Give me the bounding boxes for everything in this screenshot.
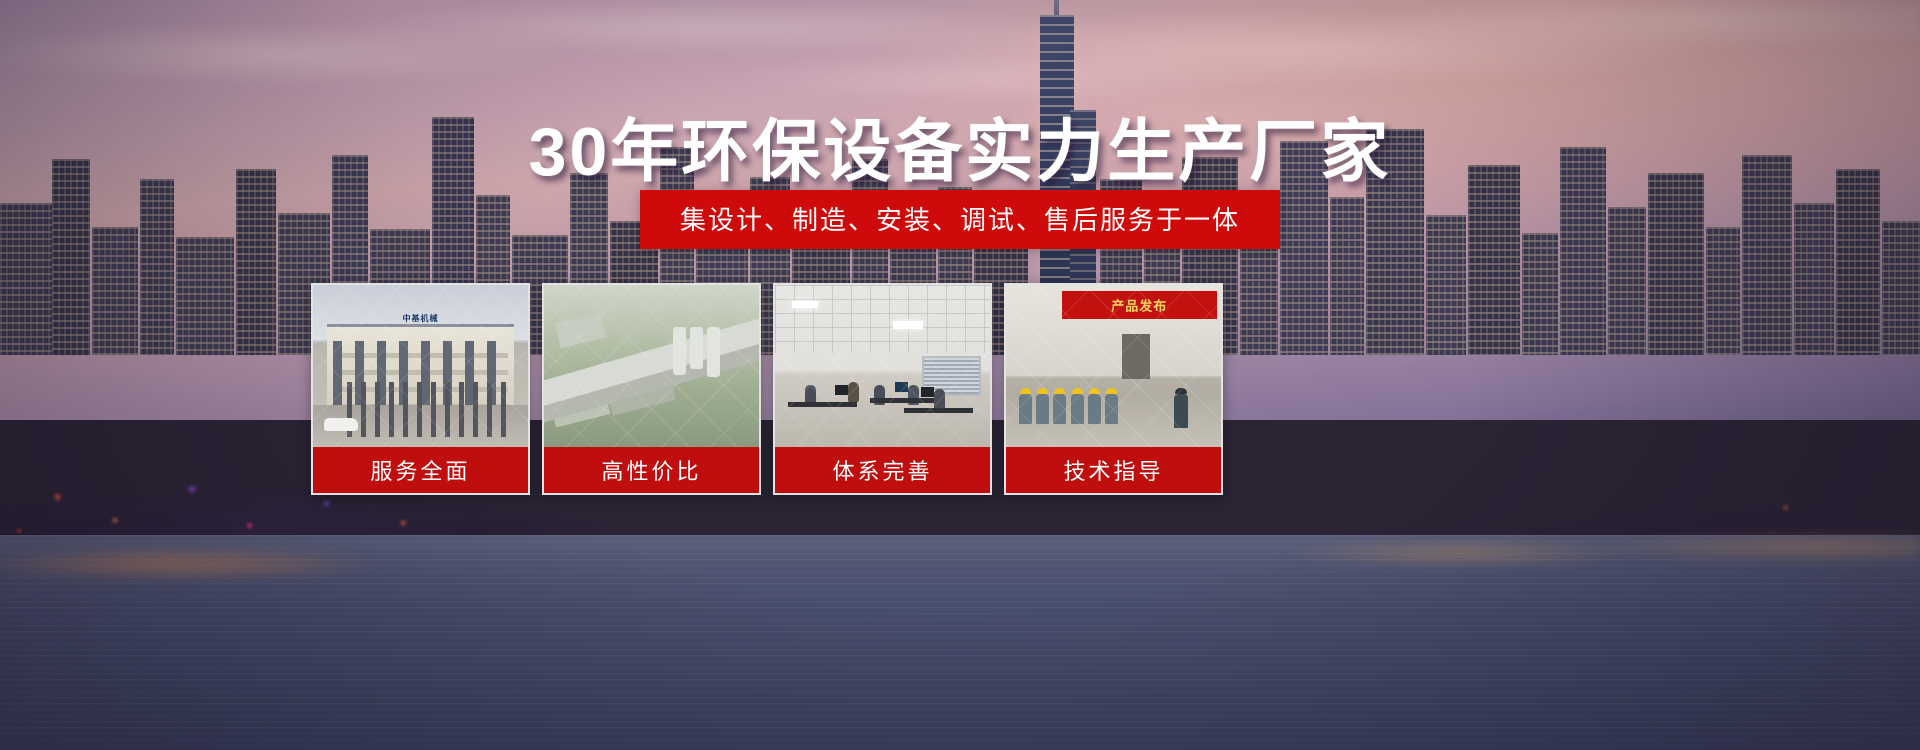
water-reflections: [0, 520, 1920, 630]
card-label: 高性价比: [544, 447, 759, 493]
factory-banner-text: 产品发布: [1111, 296, 1167, 315]
card-label: 技术指导: [1006, 447, 1221, 493]
feature-card-list: 中基机械 服务全面 高性价比: [311, 283, 1571, 495]
card-label: 服务全面: [313, 447, 528, 493]
feature-card[interactable]: 体系完善: [773, 283, 992, 495]
subtitle-wrap: 集设计、制造、安装、调试、售后服务于一体: [0, 190, 1920, 249]
hero-banner: 30年环保设备实力生产厂家 集设计、制造、安装、调试、售后服务于一体 中基机械 …: [0, 0, 1920, 750]
feature-card[interactable]: 高性价比: [542, 283, 761, 495]
page-title: 30年环保设备实力生产厂家: [0, 96, 1920, 195]
feature-card[interactable]: 产品发布 技术指导: [1004, 283, 1223, 495]
card-image-office-interior: [775, 285, 990, 447]
building-sign-text: 中基机械: [403, 313, 439, 324]
subtitle-badge: 集设计、制造、安装、调试、售后服务于一体: [640, 190, 1280, 249]
card-image-aerial-plant: [544, 285, 759, 447]
factory-banner: 产品发布: [1062, 291, 1217, 319]
card-label: 体系完善: [775, 447, 990, 493]
card-image-factory-workers: 产品发布: [1006, 285, 1221, 447]
card-image-office-building: 中基机械: [313, 285, 528, 447]
feature-card[interactable]: 中基机械 服务全面: [311, 283, 530, 495]
